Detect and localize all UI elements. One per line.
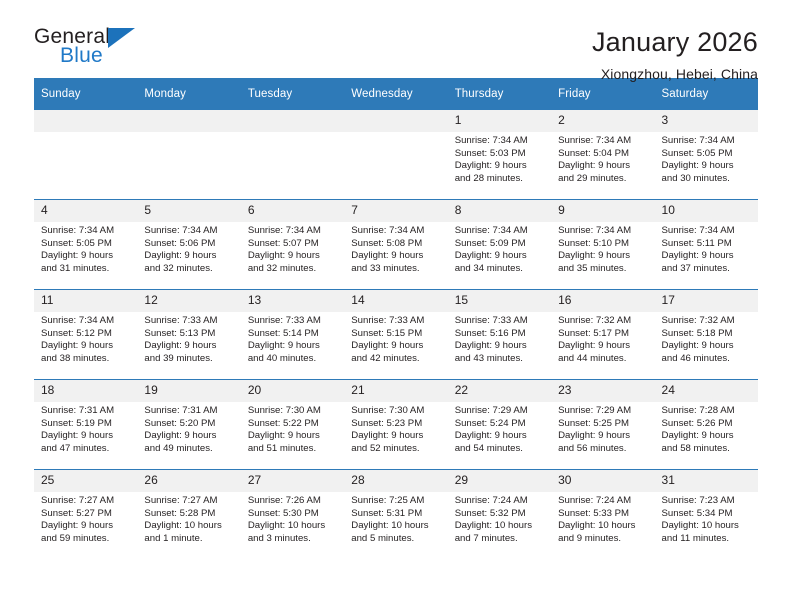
calendar-day-cell[interactable]: 22Sunrise: 7:29 AMSunset: 5:24 PMDayligh… bbox=[448, 380, 551, 470]
day-number: 6 bbox=[241, 200, 344, 222]
calendar-week-row: 11Sunrise: 7:34 AMSunset: 5:12 PMDayligh… bbox=[34, 290, 758, 380]
day-details: Sunrise: 7:33 AMSunset: 5:15 PMDaylight:… bbox=[344, 312, 447, 365]
calendar-week-row: 18Sunrise: 7:31 AMSunset: 5:19 PMDayligh… bbox=[34, 380, 758, 470]
calendar-day-cell[interactable]: 26Sunrise: 7:27 AMSunset: 5:28 PMDayligh… bbox=[137, 470, 240, 560]
sunset-text: Sunset: 5:10 PM bbox=[558, 238, 648, 251]
daylight-text: Daylight: 10 hours and 9 minutes. bbox=[558, 520, 648, 545]
calendar-day-cell[interactable]: 28Sunrise: 7:25 AMSunset: 5:31 PMDayligh… bbox=[344, 470, 447, 560]
sunrise-text: Sunrise: 7:33 AM bbox=[455, 315, 545, 328]
daylight-text: Daylight: 9 hours and 49 minutes. bbox=[144, 430, 234, 455]
daylight-text: Daylight: 10 hours and 7 minutes. bbox=[455, 520, 545, 545]
sunset-text: Sunset: 5:22 PM bbox=[248, 418, 338, 431]
calendar-body: 1Sunrise: 7:34 AMSunset: 5:03 PMDaylight… bbox=[34, 110, 758, 559]
calendar-day-cell[interactable]: 14Sunrise: 7:33 AMSunset: 5:15 PMDayligh… bbox=[344, 290, 447, 380]
calendar-day-cell[interactable]: 8Sunrise: 7:34 AMSunset: 5:09 PMDaylight… bbox=[448, 200, 551, 290]
daylight-text: Daylight: 9 hours and 32 minutes. bbox=[248, 250, 338, 275]
day-number: 13 bbox=[241, 290, 344, 312]
sunset-text: Sunset: 5:30 PM bbox=[248, 508, 338, 521]
day-details: Sunrise: 7:25 AMSunset: 5:31 PMDaylight:… bbox=[344, 492, 447, 545]
sunrise-text: Sunrise: 7:34 AM bbox=[558, 135, 648, 148]
day-number: 8 bbox=[448, 200, 551, 222]
calendar-week-row: 1Sunrise: 7:34 AMSunset: 5:03 PMDaylight… bbox=[34, 110, 758, 200]
calendar-day-cell[interactable]: 31Sunrise: 7:23 AMSunset: 5:34 PMDayligh… bbox=[655, 470, 758, 560]
sunrise-text: Sunrise: 7:34 AM bbox=[351, 225, 441, 238]
calendar-day-cell[interactable]: 21Sunrise: 7:30 AMSunset: 5:23 PMDayligh… bbox=[344, 380, 447, 470]
sunrise-text: Sunrise: 7:34 AM bbox=[662, 225, 752, 238]
sunrise-text: Sunrise: 7:28 AM bbox=[662, 405, 752, 418]
sunset-text: Sunset: 5:13 PM bbox=[144, 328, 234, 341]
day-number: 15 bbox=[448, 290, 551, 312]
calendar-day-cell-empty bbox=[137, 110, 240, 200]
page-subtitle: Xiongzhou, Hebei, China bbox=[592, 64, 758, 84]
sunset-text: Sunset: 5:31 PM bbox=[351, 508, 441, 521]
day-details: Sunrise: 7:34 AMSunset: 5:09 PMDaylight:… bbox=[448, 222, 551, 275]
day-details: Sunrise: 7:24 AMSunset: 5:32 PMDaylight:… bbox=[448, 492, 551, 545]
daylight-text: Daylight: 9 hours and 44 minutes. bbox=[558, 340, 648, 365]
calendar-day-cell[interactable]: 25Sunrise: 7:27 AMSunset: 5:27 PMDayligh… bbox=[34, 470, 137, 560]
daylight-text: Daylight: 9 hours and 32 minutes. bbox=[144, 250, 234, 275]
sunrise-text: Sunrise: 7:29 AM bbox=[558, 405, 648, 418]
daylight-text: Daylight: 9 hours and 29 minutes. bbox=[558, 160, 648, 185]
day-details: Sunrise: 7:24 AMSunset: 5:33 PMDaylight:… bbox=[551, 492, 654, 545]
daylight-text: Daylight: 9 hours and 39 minutes. bbox=[144, 340, 234, 365]
calendar-table: Sunday Monday Tuesday Wednesday Thursday… bbox=[34, 78, 758, 559]
day-details: Sunrise: 7:34 AMSunset: 5:08 PMDaylight:… bbox=[344, 222, 447, 275]
daylight-text: Daylight: 9 hours and 33 minutes. bbox=[351, 250, 441, 275]
sunrise-text: Sunrise: 7:34 AM bbox=[41, 225, 131, 238]
day-number: 22 bbox=[448, 380, 551, 402]
day-number: 3 bbox=[655, 110, 758, 132]
day-number: 23 bbox=[551, 380, 654, 402]
sunset-text: Sunset: 5:11 PM bbox=[662, 238, 752, 251]
day-details: Sunrise: 7:30 AMSunset: 5:22 PMDaylight:… bbox=[241, 402, 344, 455]
logo-text-blue: Blue bbox=[60, 45, 103, 67]
day-details: Sunrise: 7:33 AMSunset: 5:13 PMDaylight:… bbox=[137, 312, 240, 365]
day-details: Sunrise: 7:34 AMSunset: 5:07 PMDaylight:… bbox=[241, 222, 344, 275]
day-number bbox=[137, 110, 240, 132]
sunrise-text: Sunrise: 7:32 AM bbox=[558, 315, 648, 328]
sunrise-text: Sunrise: 7:34 AM bbox=[248, 225, 338, 238]
sunrise-text: Sunrise: 7:33 AM bbox=[144, 315, 234, 328]
weekday-header-sunday: Sunday bbox=[34, 78, 137, 110]
sunrise-text: Sunrise: 7:30 AM bbox=[248, 405, 338, 418]
day-number: 11 bbox=[34, 290, 137, 312]
day-number: 31 bbox=[655, 470, 758, 492]
daylight-text: Daylight: 10 hours and 1 minute. bbox=[144, 520, 234, 545]
sunset-text: Sunset: 5:34 PM bbox=[662, 508, 752, 521]
day-number: 10 bbox=[655, 200, 758, 222]
calendar-page: General Blue January 2026 Xiongzhou, Heb… bbox=[0, 0, 792, 612]
calendar-day-cell[interactable]: 6Sunrise: 7:34 AMSunset: 5:07 PMDaylight… bbox=[241, 200, 344, 290]
day-details: Sunrise: 7:23 AMSunset: 5:34 PMDaylight:… bbox=[655, 492, 758, 545]
weekday-header-thursday: Thursday bbox=[448, 78, 551, 110]
day-number: 28 bbox=[344, 470, 447, 492]
day-number: 9 bbox=[551, 200, 654, 222]
day-number: 16 bbox=[551, 290, 654, 312]
day-number: 17 bbox=[655, 290, 758, 312]
day-details: Sunrise: 7:29 AMSunset: 5:24 PMDaylight:… bbox=[448, 402, 551, 455]
calendar-day-cell[interactable]: 12Sunrise: 7:33 AMSunset: 5:13 PMDayligh… bbox=[137, 290, 240, 380]
sunset-text: Sunset: 5:26 PM bbox=[662, 418, 752, 431]
day-number: 21 bbox=[344, 380, 447, 402]
weekday-header-wednesday: Wednesday bbox=[344, 78, 447, 110]
day-details: Sunrise: 7:30 AMSunset: 5:23 PMDaylight:… bbox=[344, 402, 447, 455]
calendar-day-cell-empty bbox=[344, 110, 447, 200]
sunset-text: Sunset: 5:04 PM bbox=[558, 148, 648, 161]
calendar-day-cell[interactable]: 11Sunrise: 7:34 AMSunset: 5:12 PMDayligh… bbox=[34, 290, 137, 380]
day-number: 12 bbox=[137, 290, 240, 312]
sunset-text: Sunset: 5:12 PM bbox=[41, 328, 131, 341]
day-number: 7 bbox=[344, 200, 447, 222]
calendar-day-cell-empty bbox=[34, 110, 137, 200]
calendar-day-cell[interactable]: 9Sunrise: 7:34 AMSunset: 5:10 PMDaylight… bbox=[551, 200, 654, 290]
sunrise-text: Sunrise: 7:34 AM bbox=[455, 135, 545, 148]
day-details: Sunrise: 7:34 AMSunset: 5:10 PMDaylight:… bbox=[551, 222, 654, 275]
day-number: 4 bbox=[34, 200, 137, 222]
day-details: Sunrise: 7:33 AMSunset: 5:14 PMDaylight:… bbox=[241, 312, 344, 365]
daylight-text: Daylight: 9 hours and 35 minutes. bbox=[558, 250, 648, 275]
daylight-text: Daylight: 9 hours and 42 minutes. bbox=[351, 340, 441, 365]
daylight-text: Daylight: 9 hours and 43 minutes. bbox=[455, 340, 545, 365]
sunrise-text: Sunrise: 7:24 AM bbox=[455, 495, 545, 508]
calendar-day-cell-empty bbox=[241, 110, 344, 200]
sunset-text: Sunset: 5:16 PM bbox=[455, 328, 545, 341]
calendar-day-cell[interactable]: 17Sunrise: 7:32 AMSunset: 5:18 PMDayligh… bbox=[655, 290, 758, 380]
sunrise-text: Sunrise: 7:31 AM bbox=[41, 405, 131, 418]
sunset-text: Sunset: 5:25 PM bbox=[558, 418, 648, 431]
sunrise-text: Sunrise: 7:30 AM bbox=[351, 405, 441, 418]
calendar-week-row: 4Sunrise: 7:34 AMSunset: 5:05 PMDaylight… bbox=[34, 200, 758, 290]
day-details: Sunrise: 7:26 AMSunset: 5:30 PMDaylight:… bbox=[241, 492, 344, 545]
calendar-day-cell[interactable]: 30Sunrise: 7:24 AMSunset: 5:33 PMDayligh… bbox=[551, 470, 654, 560]
day-details: Sunrise: 7:34 AMSunset: 5:06 PMDaylight:… bbox=[137, 222, 240, 275]
calendar-day-cell[interactable]: 4Sunrise: 7:34 AMSunset: 5:05 PMDaylight… bbox=[34, 200, 137, 290]
sunset-text: Sunset: 5:05 PM bbox=[662, 148, 752, 161]
sunrise-text: Sunrise: 7:27 AM bbox=[144, 495, 234, 508]
weekday-header-tuesday: Tuesday bbox=[241, 78, 344, 110]
generalblue-logo[interactable]: General Blue bbox=[34, 26, 214, 72]
sunrise-text: Sunrise: 7:24 AM bbox=[558, 495, 648, 508]
calendar-day-cell[interactable]: 24Sunrise: 7:28 AMSunset: 5:26 PMDayligh… bbox=[655, 380, 758, 470]
sunrise-text: Sunrise: 7:34 AM bbox=[558, 225, 648, 238]
day-number: 19 bbox=[137, 380, 240, 402]
daylight-text: Daylight: 9 hours and 40 minutes. bbox=[248, 340, 338, 365]
sunset-text: Sunset: 5:09 PM bbox=[455, 238, 545, 251]
calendar-day-cell[interactable]: 15Sunrise: 7:33 AMSunset: 5:16 PMDayligh… bbox=[448, 290, 551, 380]
daylight-text: Daylight: 9 hours and 58 minutes. bbox=[662, 430, 752, 455]
sunset-text: Sunset: 5:18 PM bbox=[662, 328, 752, 341]
daylight-text: Daylight: 9 hours and 51 minutes. bbox=[248, 430, 338, 455]
title-block: January 2026 Xiongzhou, Hebei, China bbox=[592, 26, 758, 84]
day-details: Sunrise: 7:28 AMSunset: 5:26 PMDaylight:… bbox=[655, 402, 758, 455]
sunrise-text: Sunrise: 7:26 AM bbox=[248, 495, 338, 508]
day-details: Sunrise: 7:34 AMSunset: 5:03 PMDaylight:… bbox=[448, 132, 551, 185]
daylight-text: Daylight: 9 hours and 31 minutes. bbox=[41, 250, 131, 275]
day-details: Sunrise: 7:34 AMSunset: 5:12 PMDaylight:… bbox=[34, 312, 137, 365]
calendar-day-cell[interactable]: 18Sunrise: 7:31 AMSunset: 5:19 PMDayligh… bbox=[34, 380, 137, 470]
calendar-day-cell[interactable]: 23Sunrise: 7:29 AMSunset: 5:25 PMDayligh… bbox=[551, 380, 654, 470]
logo-triangle-icon bbox=[108, 28, 135, 48]
day-details: Sunrise: 7:29 AMSunset: 5:25 PMDaylight:… bbox=[551, 402, 654, 455]
day-details: Sunrise: 7:32 AMSunset: 5:17 PMDaylight:… bbox=[551, 312, 654, 365]
calendar-day-cell[interactable]: 19Sunrise: 7:31 AMSunset: 5:20 PMDayligh… bbox=[137, 380, 240, 470]
sunset-text: Sunset: 5:14 PM bbox=[248, 328, 338, 341]
day-number: 29 bbox=[448, 470, 551, 492]
sunset-text: Sunset: 5:20 PM bbox=[144, 418, 234, 431]
sunrise-text: Sunrise: 7:32 AM bbox=[662, 315, 752, 328]
sunset-text: Sunset: 5:24 PM bbox=[455, 418, 545, 431]
daylight-text: Daylight: 9 hours and 34 minutes. bbox=[455, 250, 545, 275]
daylight-text: Daylight: 9 hours and 54 minutes. bbox=[455, 430, 545, 455]
sunset-text: Sunset: 5:06 PM bbox=[144, 238, 234, 251]
calendar-day-cell[interactable]: 13Sunrise: 7:33 AMSunset: 5:14 PMDayligh… bbox=[241, 290, 344, 380]
sunrise-text: Sunrise: 7:33 AM bbox=[351, 315, 441, 328]
sunrise-text: Sunrise: 7:31 AM bbox=[144, 405, 234, 418]
sunrise-text: Sunrise: 7:34 AM bbox=[662, 135, 752, 148]
sunset-text: Sunset: 5:23 PM bbox=[351, 418, 441, 431]
calendar-week-row: 25Sunrise: 7:27 AMSunset: 5:27 PMDayligh… bbox=[34, 470, 758, 560]
weekday-header-monday: Monday bbox=[137, 78, 240, 110]
day-number: 30 bbox=[551, 470, 654, 492]
day-number: 14 bbox=[344, 290, 447, 312]
day-details: Sunrise: 7:32 AMSunset: 5:18 PMDaylight:… bbox=[655, 312, 758, 365]
calendar-day-cell[interactable]: 10Sunrise: 7:34 AMSunset: 5:11 PMDayligh… bbox=[655, 200, 758, 290]
daylight-text: Daylight: 9 hours and 52 minutes. bbox=[351, 430, 441, 455]
daylight-text: Daylight: 9 hours and 37 minutes. bbox=[662, 250, 752, 275]
day-number bbox=[34, 110, 137, 132]
day-number: 5 bbox=[137, 200, 240, 222]
sunrise-text: Sunrise: 7:34 AM bbox=[455, 225, 545, 238]
day-number: 1 bbox=[448, 110, 551, 132]
calendar-day-cell[interactable]: 29Sunrise: 7:24 AMSunset: 5:32 PMDayligh… bbox=[448, 470, 551, 560]
day-details: Sunrise: 7:34 AMSunset: 5:05 PMDaylight:… bbox=[655, 132, 758, 185]
day-number: 2 bbox=[551, 110, 654, 132]
sunset-text: Sunset: 5:15 PM bbox=[351, 328, 441, 341]
daylight-text: Daylight: 9 hours and 56 minutes. bbox=[558, 430, 648, 455]
page-title: January 2026 bbox=[592, 26, 758, 58]
day-number: 20 bbox=[241, 380, 344, 402]
calendar-day-cell[interactable]: 3Sunrise: 7:34 AMSunset: 5:05 PMDaylight… bbox=[655, 110, 758, 200]
calendar-day-cell[interactable]: 7Sunrise: 7:34 AMSunset: 5:08 PMDaylight… bbox=[344, 200, 447, 290]
day-details: Sunrise: 7:27 AMSunset: 5:27 PMDaylight:… bbox=[34, 492, 137, 545]
calendar-day-cell[interactable]: 16Sunrise: 7:32 AMSunset: 5:17 PMDayligh… bbox=[551, 290, 654, 380]
sunrise-text: Sunrise: 7:33 AM bbox=[248, 315, 338, 328]
day-details: Sunrise: 7:33 AMSunset: 5:16 PMDaylight:… bbox=[448, 312, 551, 365]
daylight-text: Daylight: 9 hours and 47 minutes. bbox=[41, 430, 131, 455]
sunset-text: Sunset: 5:07 PM bbox=[248, 238, 338, 251]
day-details: Sunrise: 7:31 AMSunset: 5:20 PMDaylight:… bbox=[137, 402, 240, 455]
day-details: Sunrise: 7:34 AMSunset: 5:11 PMDaylight:… bbox=[655, 222, 758, 275]
sunrise-text: Sunrise: 7:25 AM bbox=[351, 495, 441, 508]
day-number: 18 bbox=[34, 380, 137, 402]
daylight-text: Daylight: 9 hours and 46 minutes. bbox=[662, 340, 752, 365]
daylight-text: Daylight: 10 hours and 3 minutes. bbox=[248, 520, 338, 545]
day-number: 25 bbox=[34, 470, 137, 492]
day-details: Sunrise: 7:34 AMSunset: 5:04 PMDaylight:… bbox=[551, 132, 654, 185]
calendar-day-cell[interactable]: 5Sunrise: 7:34 AMSunset: 5:06 PMDaylight… bbox=[137, 200, 240, 290]
day-details: Sunrise: 7:34 AMSunset: 5:05 PMDaylight:… bbox=[34, 222, 137, 275]
day-details: Sunrise: 7:31 AMSunset: 5:19 PMDaylight:… bbox=[34, 402, 137, 455]
calendar-day-cell[interactable]: 20Sunrise: 7:30 AMSunset: 5:22 PMDayligh… bbox=[241, 380, 344, 470]
sunset-text: Sunset: 5:28 PM bbox=[144, 508, 234, 521]
sunset-text: Sunset: 5:05 PM bbox=[41, 238, 131, 251]
sunset-text: Sunset: 5:17 PM bbox=[558, 328, 648, 341]
sunrise-text: Sunrise: 7:29 AM bbox=[455, 405, 545, 418]
page-header: General Blue January 2026 Xiongzhou, Heb… bbox=[34, 0, 758, 72]
day-number: 26 bbox=[137, 470, 240, 492]
sunset-text: Sunset: 5:19 PM bbox=[41, 418, 131, 431]
day-number bbox=[241, 110, 344, 132]
sunrise-text: Sunrise: 7:23 AM bbox=[662, 495, 752, 508]
sunset-text: Sunset: 5:27 PM bbox=[41, 508, 131, 521]
sunrise-text: Sunrise: 7:34 AM bbox=[144, 225, 234, 238]
day-number: 24 bbox=[655, 380, 758, 402]
day-number: 27 bbox=[241, 470, 344, 492]
sunset-text: Sunset: 5:33 PM bbox=[558, 508, 648, 521]
sunset-text: Sunset: 5:08 PM bbox=[351, 238, 441, 251]
sunrise-text: Sunrise: 7:34 AM bbox=[41, 315, 131, 328]
day-number bbox=[344, 110, 447, 132]
calendar-day-cell[interactable]: 2Sunrise: 7:34 AMSunset: 5:04 PMDaylight… bbox=[551, 110, 654, 200]
daylight-text: Daylight: 10 hours and 5 minutes. bbox=[351, 520, 441, 545]
daylight-text: Daylight: 9 hours and 38 minutes. bbox=[41, 340, 131, 365]
day-details: Sunrise: 7:27 AMSunset: 5:28 PMDaylight:… bbox=[137, 492, 240, 545]
sunrise-text: Sunrise: 7:27 AM bbox=[41, 495, 131, 508]
daylight-text: Daylight: 9 hours and 30 minutes. bbox=[662, 160, 752, 185]
daylight-text: Daylight: 10 hours and 11 minutes. bbox=[662, 520, 752, 545]
daylight-text: Daylight: 9 hours and 59 minutes. bbox=[41, 520, 131, 545]
sunset-text: Sunset: 5:03 PM bbox=[455, 148, 545, 161]
daylight-text: Daylight: 9 hours and 28 minutes. bbox=[455, 160, 545, 185]
calendar-day-cell[interactable]: 27Sunrise: 7:26 AMSunset: 5:30 PMDayligh… bbox=[241, 470, 344, 560]
sunset-text: Sunset: 5:32 PM bbox=[455, 508, 545, 521]
calendar-day-cell[interactable]: 1Sunrise: 7:34 AMSunset: 5:03 PMDaylight… bbox=[448, 110, 551, 200]
